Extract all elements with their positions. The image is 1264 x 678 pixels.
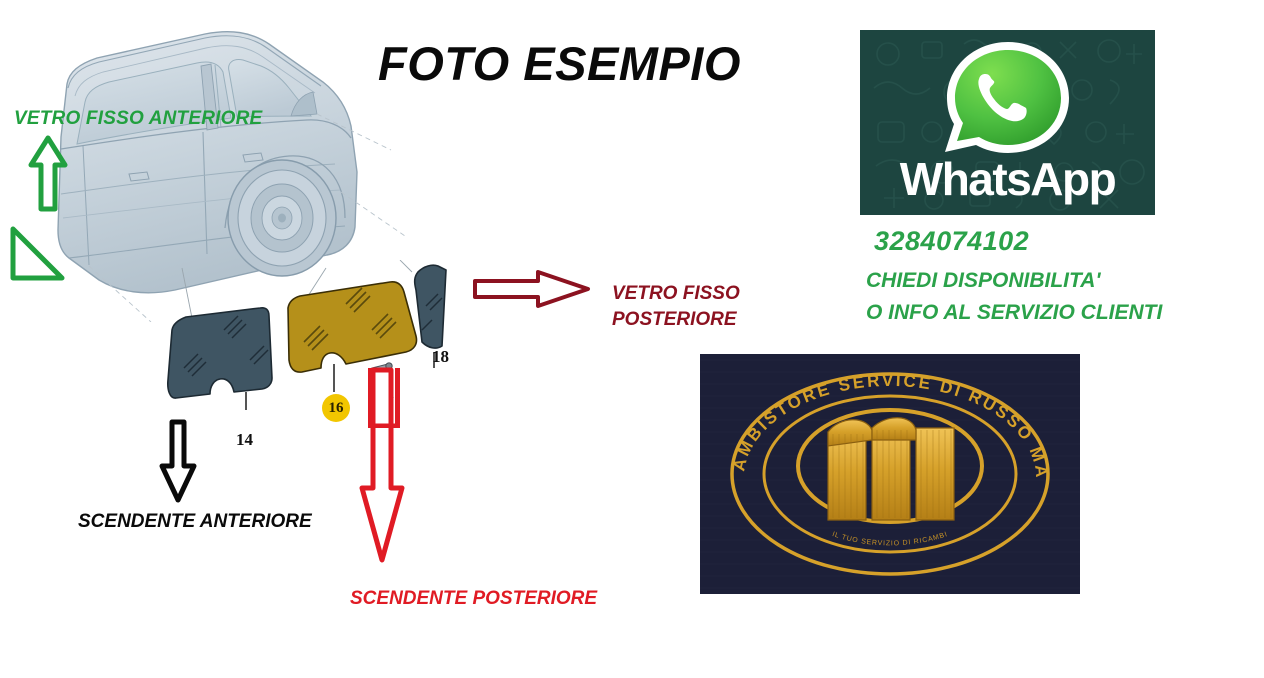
red-highlight-box-17 [368, 368, 400, 433]
part-18-shape [415, 265, 446, 348]
shop-logo-emblem-icon: MRICAMBISTORE SERVICE DI RUSSO MARCO IL … [700, 354, 1080, 594]
part-16-shape [288, 282, 417, 372]
contact-line-2: O INFO AL SERVIZIO CLIENTI [866, 301, 1162, 325]
callout-scendente-posteriore: SCENDENTE POSTERIORE [350, 588, 597, 610]
part-badge-16: 16 [322, 394, 350, 422]
part-number-18: 18 [432, 347, 449, 367]
exploded-glass-parts [150, 260, 480, 440]
whatsapp-wordmark: WhatsApp [860, 152, 1155, 206]
part-number-14: 14 [236, 430, 253, 450]
callout-vetro-fisso-anteriore: VETRO FISSO ANTERIORE [14, 108, 262, 130]
shop-logo: MRICAMBISTORE SERVICE DI RUSSO MARCO IL … [700, 354, 1080, 594]
contact-phone-number: 3284074102 [874, 226, 1029, 257]
callout-scendente-anteriore: SCENDENTE ANTERIORE [78, 511, 312, 533]
part-14-shape [168, 308, 272, 398]
black-down-arrow-icon [157, 418, 199, 509]
whatsapp-banner: WhatsApp [860, 30, 1155, 215]
callout-line-1: VETRO FISSO [612, 281, 792, 307]
darkred-right-arrow-icon [472, 268, 592, 315]
contact-line-1: CHIEDI DISPONIBILITA' [866, 269, 1100, 293]
green-triangle-icon [8, 225, 66, 288]
page-title: FOTO ESEMPIO [378, 36, 741, 91]
whatsapp-icon [923, 38, 1093, 161]
callout-vetro-fisso-posteriore: VETRO FISSO POSTERIORE [612, 281, 792, 333]
svg-text:IL TUO SERVIZIO DI RICAMBI: IL TUO SERVIZIO DI RICAMBI [831, 531, 949, 547]
green-up-arrow-icon [28, 135, 68, 218]
promo-image-canvas: 14 16 17 18 VETRO FISSO ANTERIORE [0, 0, 1264, 678]
callout-line-2: POSTERIORE [612, 307, 792, 333]
